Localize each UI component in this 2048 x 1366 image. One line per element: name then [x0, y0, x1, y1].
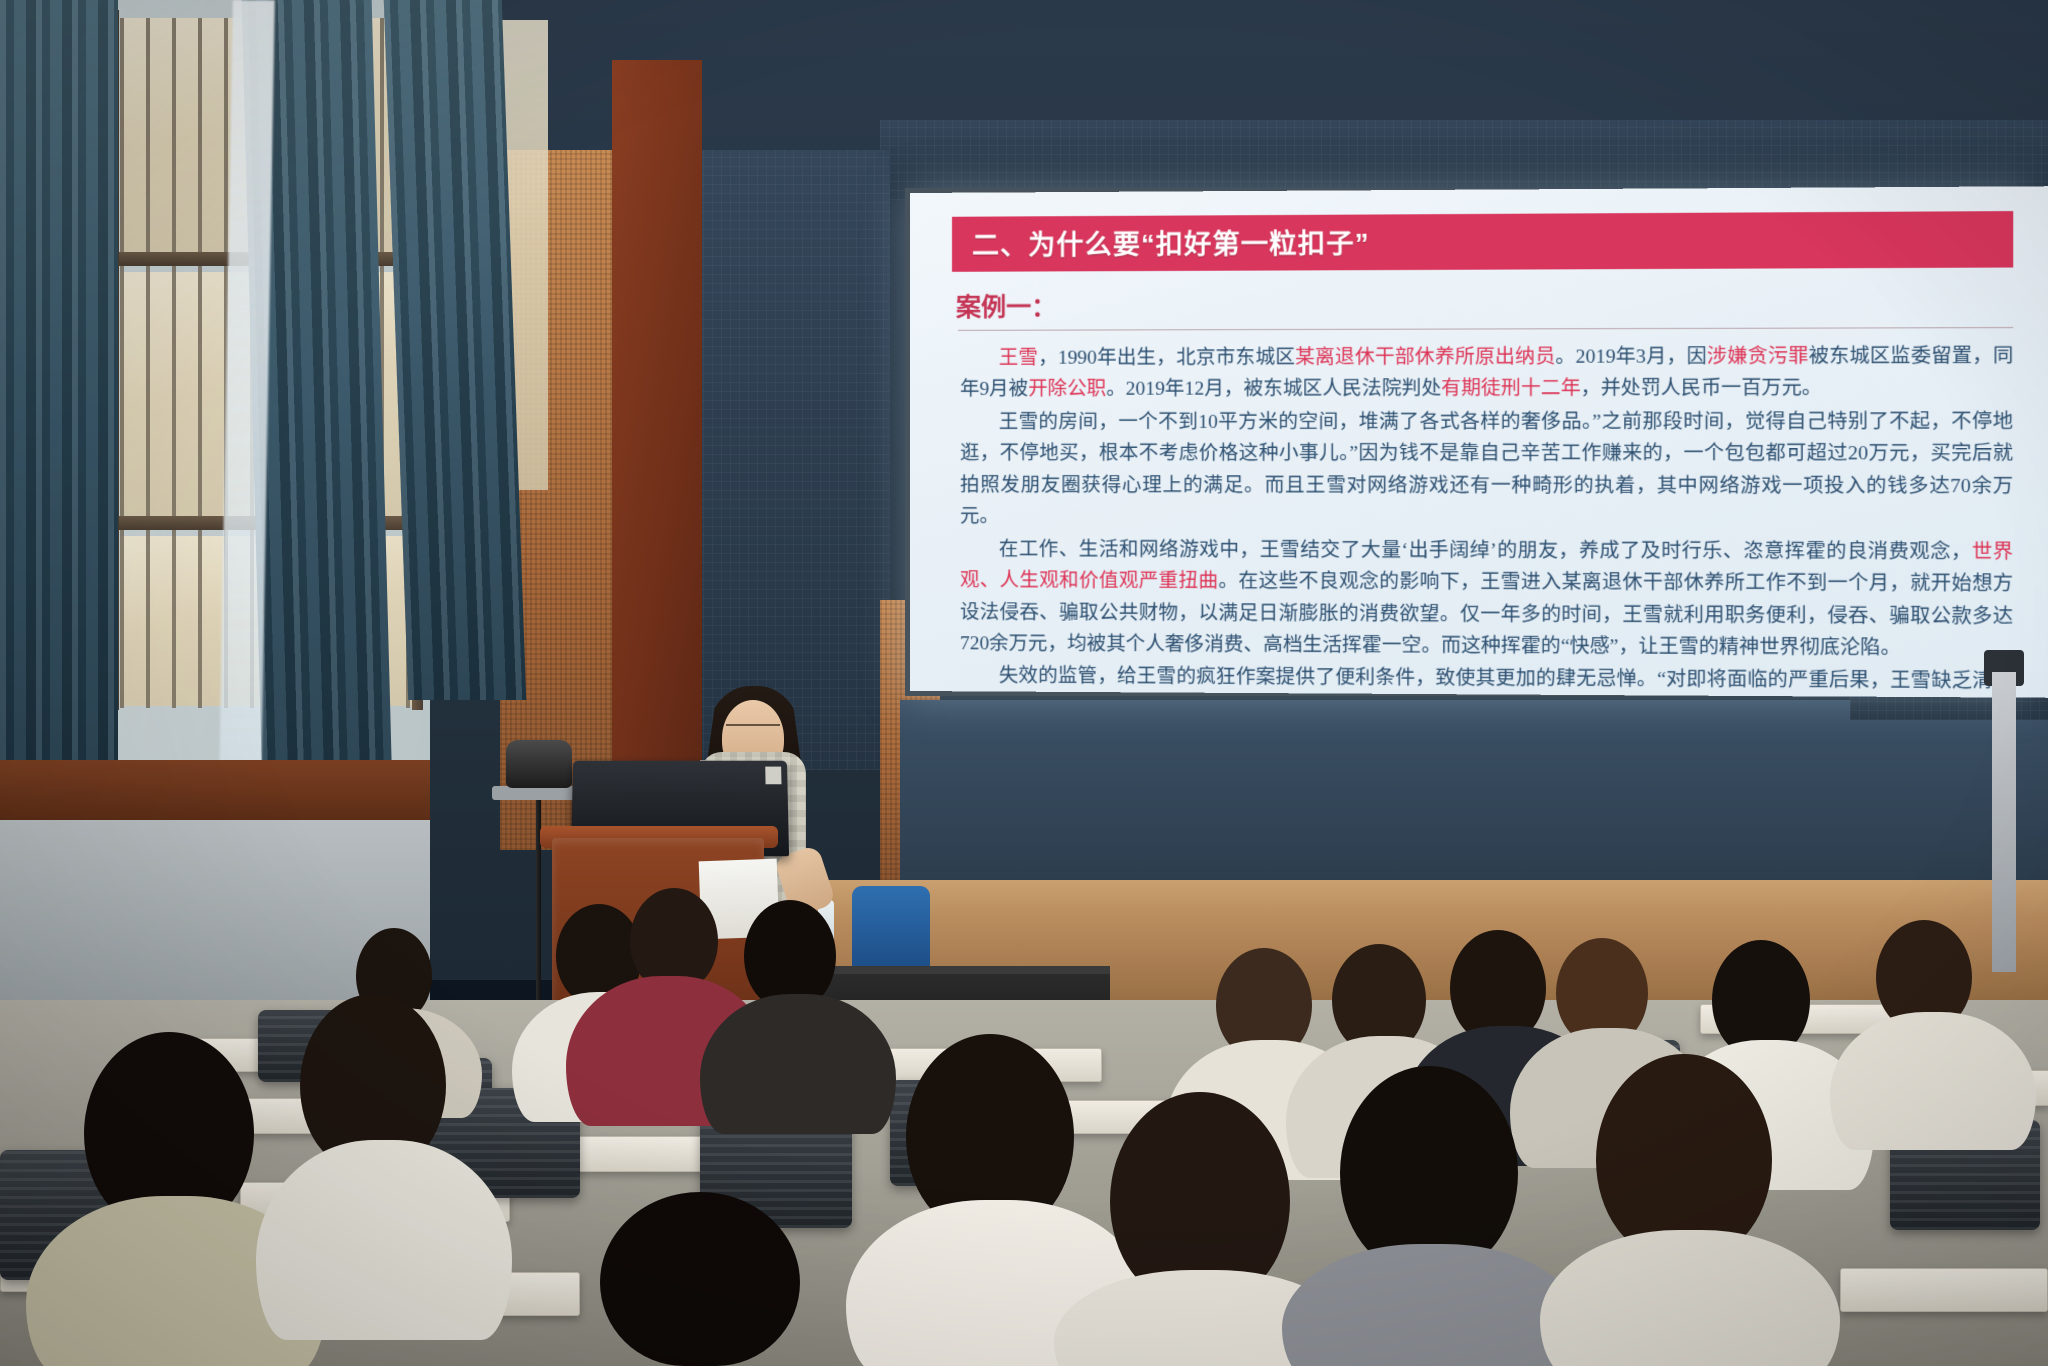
audience-head [600, 1192, 800, 1366]
presentation-slide: 二、为什么要“扣好第一粒扣子” 案例一： 王雪，1990年出生，北京市东城区某离… [910, 186, 2048, 698]
body-text-run: 王雪的房间，一个不到10平方米的空间，堆满了各式各样的奢侈品。”之前那段时间，觉… [960, 411, 2013, 527]
curtain-left[interactable] [0, 0, 118, 770]
body-text-run: 。2019年3月，因 [1555, 346, 1707, 368]
audience-head [630, 888, 718, 990]
wood-pillar [612, 60, 702, 860]
highlighted-text: 有期徒刑十二年 [1441, 378, 1581, 399]
body-text-run: 失效的监管，给王雪的疯狂作案提供了便利条件，致使其更加的肆无忌惮。“对即将面临的… [960, 666, 2013, 698]
student-desk [1840, 1268, 2048, 1312]
speaker-stand [1992, 672, 2016, 972]
highlighted-text: 开除公职 [1028, 379, 1106, 400]
window-sill [0, 760, 430, 820]
body-text-run: ，1990年出生，北京市东城区 [1038, 347, 1295, 369]
body-text-run: ，并处罚人民币一百万元。 [1581, 378, 1822, 400]
slide-paragraph: 王雪，1990年出生，北京市东城区某离退休干部休养所原出纳员。2019年3月，因… [960, 340, 2013, 405]
wall-lower-strip [900, 700, 2048, 910]
audience-head [744, 900, 836, 1008]
body-text-run: 。2019年12月，被东城区人民法院判处 [1106, 379, 1441, 401]
body-text-run: 在工作、生活和网络游戏中，王雪结交了大量‘出手阔绰’的朋友，养成了及时行乐、恣意… [999, 539, 1972, 563]
highlighted-text: 某离退休干部休养所原出纳员 [1295, 347, 1555, 369]
audience-body [700, 994, 896, 1134]
slide-paragraph: 王雪的房间，一个不到10平方米的空间，堆满了各式各样的奢侈品。”之前那段时间，觉… [960, 406, 2013, 535]
audience-head [1712, 940, 1810, 1056]
camera-tripod [536, 760, 541, 1040]
camera-icon [506, 740, 572, 788]
audience-head [1340, 1066, 1518, 1272]
projection-screen-frame: 二、为什么要“扣好第一粒扣子” 案例一： 王雪，1990年出生，北京市东城区某离… [905, 188, 2035, 696]
slide-paragraph: 在工作、生活和网络游戏中，王雪结交了大量‘出手阔绰’的朋友，养成了及时行乐、恣意… [960, 534, 2013, 665]
blue-chair[interactable] [852, 886, 930, 970]
glasses-icon [726, 724, 780, 735]
case-label: 案例一： [956, 284, 2032, 324]
curtain-right[interactable] [384, 0, 526, 700]
highlighted-text: 涉嫌贪污罪 [1707, 346, 1809, 368]
audience-head [1596, 1054, 1772, 1258]
divider-line [958, 327, 2013, 331]
projection-screen: 二、为什么要“扣好第一粒扣子” 案例一： 王雪，1990年出生，北京市东城区某离… [910, 186, 2048, 698]
slide-title: 二、为什么要“扣好第一粒扣子” [952, 211, 2013, 272]
laptop-badge [765, 767, 781, 785]
slide-paragraph: 失效的监管，给王雪的疯狂作案提供了便利条件，致使其更加的肆无忌惮。“对即将面临的… [960, 661, 2013, 698]
lecture-hall-photo: 二、为什么要“扣好第一粒扣子” 案例一： 王雪，1990年出生，北京市东城区某离… [0, 0, 2048, 1366]
highlighted-text: 王雪 [999, 348, 1038, 369]
audience-body [1830, 1012, 2036, 1150]
